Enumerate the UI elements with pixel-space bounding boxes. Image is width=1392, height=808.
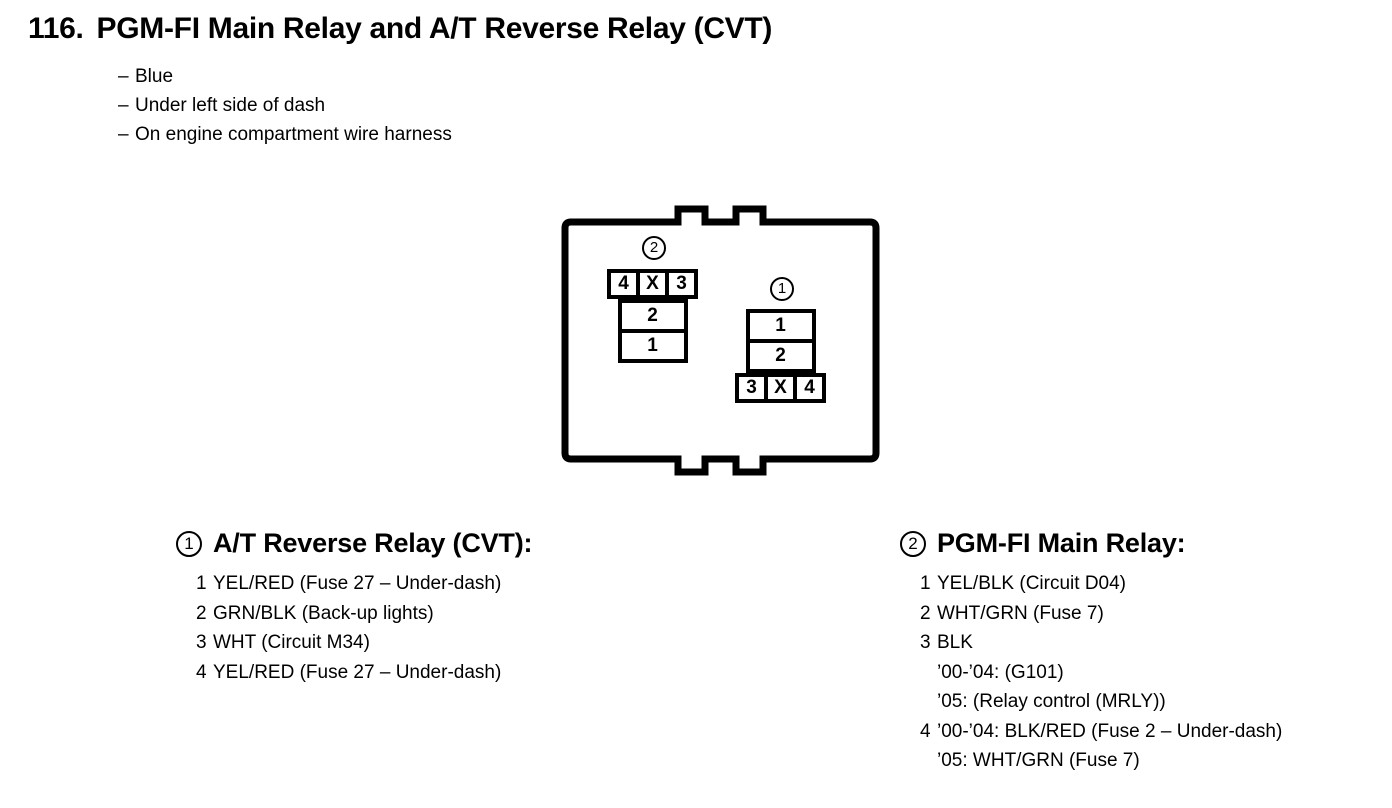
connector-outline-icon (548, 195, 908, 480)
legend-item: 4 ’00-’04: BLK/RED (Fuse 2 – Under-dash)… (920, 717, 1380, 776)
legend-item-subline: ’05: WHT/GRN (Fuse 7) (937, 746, 1282, 776)
legend-title-1: A/T Reverse Relay (CVT): (213, 528, 532, 559)
terminal-cell: 4 (797, 377, 822, 399)
legend-item-subline: ’00-’04: (G101) (937, 658, 1166, 688)
legend-header-1: 1 A/T Reverse Relay (CVT): (176, 528, 796, 559)
legend-badge-1: 1 (176, 531, 202, 557)
legend-column-right: 2 PGM-FI Main Relay: 1 YEL/BLK (Circuit … (900, 528, 1380, 776)
legend-item-number: 3 (920, 628, 937, 658)
legend-items-left: 1 YEL/RED (Fuse 27 – Under-dash) 2 GRN/B… (196, 569, 796, 687)
legend-item-number: 1 (920, 569, 937, 599)
spec-bullet-item: – On engine compartment wire harness (118, 120, 452, 149)
legend-item-subline: ’05: (Relay control (MRLY)) (937, 687, 1166, 717)
legend-title-2: PGM-FI Main Relay: (937, 528, 1185, 559)
legend-item-text: GRN/BLK (Back-up lights) (213, 599, 434, 629)
legend-item-text: ’00-’04: BLK/RED (Fuse 2 – Under-dash) (937, 717, 1282, 747)
legend-item: 2 WHT/GRN (Fuse 7) (920, 599, 1380, 629)
legend-item-text: WHT (Circuit M34) (213, 628, 370, 658)
legend-item-number: 1 (196, 569, 213, 599)
terminal-block-1: 1 2 3 X 4 (735, 309, 826, 403)
terminal-cell: 1 (622, 333, 684, 359)
section-number: 116. (28, 12, 84, 46)
page-title: 116. PGM-FI Main Relay and A/T Reverse R… (28, 12, 1228, 46)
legend-item-number: 2 (196, 599, 213, 629)
diagram-callout-2: 2 (642, 236, 666, 260)
terminal-cell: X (640, 273, 665, 295)
dash-icon: – (118, 62, 135, 91)
legend-item: 4 YEL/RED (Fuse 27 – Under-dash) (196, 658, 796, 688)
section-title: PGM-FI Main Relay and A/T Reverse Relay … (97, 12, 773, 46)
legend-item-number: 4 (920, 717, 937, 747)
legend-item-number: 4 (196, 658, 213, 688)
legend-item-number: 2 (920, 599, 937, 629)
legend-item: 1 YEL/BLK (Circuit D04) (920, 569, 1380, 599)
legend-badge-2: 2 (900, 531, 926, 557)
diagram-callout-1: 1 (770, 277, 794, 301)
spec-bullet-item: – Under left side of dash (118, 91, 452, 120)
spec-bullet-label: Under left side of dash (135, 91, 325, 120)
terminal-cell: 1 (750, 313, 812, 339)
legend-header-2: 2 PGM-FI Main Relay: (900, 528, 1380, 559)
terminal-row-triple: 3 X 4 (735, 373, 826, 403)
legend-item: 3 WHT (Circuit M34) (196, 628, 796, 658)
spec-bullet-label: Blue (135, 62, 173, 91)
terminal-cell: 2 (622, 303, 684, 329)
terminal-row-stack: 1 2 (746, 309, 816, 373)
legend-item-text: WHT/GRN (Fuse 7) (937, 599, 1104, 629)
legend-item-number: 3 (196, 628, 213, 658)
terminal-cell: 4 (611, 273, 636, 295)
terminal-cell: 3 (669, 273, 694, 295)
legend-item: 3 BLK ’00-’04: (G101) ’05: (Relay contro… (920, 628, 1380, 717)
legend-item: 2 GRN/BLK (Back-up lights) (196, 599, 796, 629)
legend-item-text: BLK (937, 628, 1166, 658)
spec-bullet-label: On engine compartment wire harness (135, 120, 452, 149)
terminal-row-triple: 4 X 3 (607, 269, 698, 299)
terminal-cell: X (768, 377, 793, 399)
spec-bullet-list: – Blue – Under left side of dash – On en… (118, 62, 452, 149)
legend-item-text: YEL/BLK (Circuit D04) (937, 569, 1126, 599)
spec-bullet-item: – Blue (118, 62, 452, 91)
terminal-block-2: 4 X 3 2 1 (607, 269, 698, 363)
legend-item: 1 YEL/RED (Fuse 27 – Under-dash) (196, 569, 796, 599)
dash-icon: – (118, 91, 135, 120)
legend-item-text: YEL/RED (Fuse 27 – Under-dash) (213, 569, 501, 599)
legend-items-right: 1 YEL/BLK (Circuit D04) 2 WHT/GRN (Fuse … (920, 569, 1380, 776)
terminal-cell: 2 (750, 343, 812, 369)
terminal-row-stack: 2 1 (618, 299, 688, 363)
legend-column-left: 1 A/T Reverse Relay (CVT): 1 YEL/RED (Fu… (176, 528, 796, 687)
connector-diagram: 2 1 4 X 3 2 1 1 2 3 X 4 (548, 195, 908, 480)
legend-item-text: YEL/RED (Fuse 27 – Under-dash) (213, 658, 501, 688)
page-header: 116. PGM-FI Main Relay and A/T Reverse R… (28, 12, 1228, 46)
terminal-cell: 3 (739, 377, 764, 399)
dash-icon: – (118, 120, 135, 149)
